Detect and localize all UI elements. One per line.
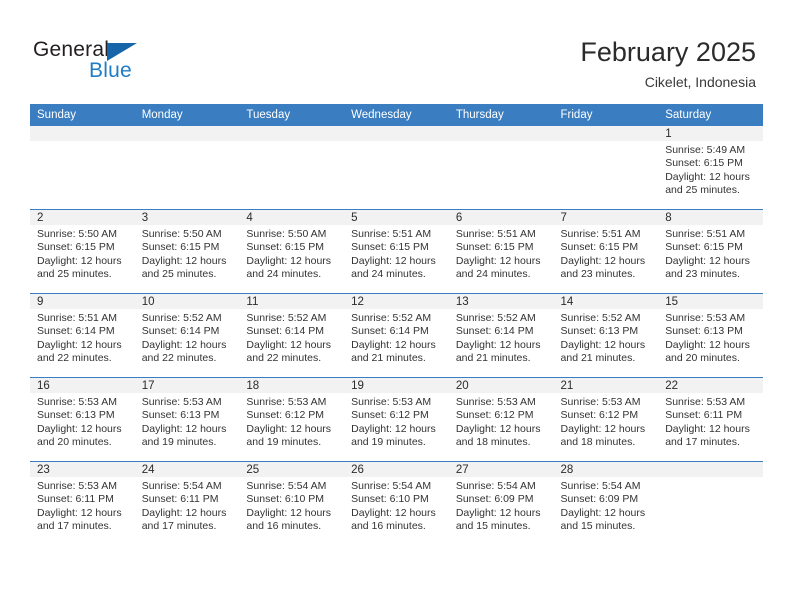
calendar-cell-inner: 9Sunrise: 5:51 AMSunset: 6:14 PMDaylight… <box>30 294 135 377</box>
calendar-day-cell[interactable]: 3Sunrise: 5:50 AMSunset: 6:15 PMDaylight… <box>135 210 240 294</box>
daylight-text-line1: Daylight: 12 hours <box>665 339 757 352</box>
calendar-day-cell[interactable]: 28Sunrise: 5:54 AMSunset: 6:09 PMDayligh… <box>554 462 659 546</box>
general-blue-logo[interactable]: General Blue <box>33 38 233 88</box>
calendar-cell-inner: 23Sunrise: 5:53 AMSunset: 6:11 PMDayligh… <box>30 462 135 545</box>
daylight-text-line2: and 15 minutes. <box>456 520 548 533</box>
daylight-text-line2: and 25 minutes. <box>665 184 757 197</box>
daylight-text-line1: Daylight: 12 hours <box>246 423 338 436</box>
calendar-cell-inner <box>239 126 344 209</box>
day-number: 13 <box>449 294 554 309</box>
calendar-cell-empty <box>449 126 554 210</box>
calendar-cell-inner: 4Sunrise: 5:50 AMSunset: 6:15 PMDaylight… <box>239 210 344 293</box>
daylight-text-line2: and 21 minutes. <box>351 352 443 365</box>
calendar-day-cell[interactable]: 22Sunrise: 5:53 AMSunset: 6:11 PMDayligh… <box>658 378 763 462</box>
daylight-text-line1: Daylight: 12 hours <box>561 423 653 436</box>
daylight-text-line1: Daylight: 12 hours <box>665 171 757 184</box>
daylight-text-line2: and 16 minutes. <box>246 520 338 533</box>
day-details: Sunrise: 5:54 AMSunset: 6:10 PMDaylight:… <box>344 477 449 534</box>
calendar-day-cell[interactable]: 20Sunrise: 5:53 AMSunset: 6:12 PMDayligh… <box>449 378 554 462</box>
day-details: Sunrise: 5:53 AMSunset: 6:12 PMDaylight:… <box>449 393 554 450</box>
day-number: 3 <box>135 210 240 225</box>
sunset-text: Sunset: 6:09 PM <box>456 493 548 506</box>
day-number <box>30 126 135 141</box>
day-details: Sunrise: 5:52 AMSunset: 6:14 PMDaylight:… <box>449 309 554 366</box>
calendar-cell-inner: 11Sunrise: 5:52 AMSunset: 6:14 PMDayligh… <box>239 294 344 377</box>
calendar-cell-empty <box>344 126 449 210</box>
sunrise-text: Sunrise: 5:53 AM <box>351 396 443 409</box>
sunrise-text: Sunrise: 5:52 AM <box>246 312 338 325</box>
calendar-cell-inner <box>344 126 449 209</box>
calendar-header-row: Sunday Monday Tuesday Wednesday Thursday… <box>30 104 763 126</box>
calendar-cell-inner <box>658 462 763 545</box>
daylight-text-line2: and 17 minutes. <box>142 520 234 533</box>
day-details: Sunrise: 5:49 AMSunset: 6:15 PMDaylight:… <box>658 141 763 198</box>
day-number: 28 <box>554 462 659 477</box>
day-number: 12 <box>344 294 449 309</box>
calendar-day-cell[interactable]: 14Sunrise: 5:52 AMSunset: 6:13 PMDayligh… <box>554 294 659 378</box>
sunset-text: Sunset: 6:14 PM <box>351 325 443 338</box>
calendar-day-cell[interactable]: 23Sunrise: 5:53 AMSunset: 6:11 PMDayligh… <box>30 462 135 546</box>
sunrise-text: Sunrise: 5:52 AM <box>456 312 548 325</box>
day-details: Sunrise: 5:53 AMSunset: 6:12 PMDaylight:… <box>239 393 344 450</box>
day-details: Sunrise: 5:53 AMSunset: 6:12 PMDaylight:… <box>344 393 449 450</box>
calendar-cell-inner: 20Sunrise: 5:53 AMSunset: 6:12 PMDayligh… <box>449 378 554 461</box>
calendar-cell-inner: 14Sunrise: 5:52 AMSunset: 6:13 PMDayligh… <box>554 294 659 377</box>
calendar-day-cell[interactable]: 2Sunrise: 5:50 AMSunset: 6:15 PMDaylight… <box>30 210 135 294</box>
calendar-day-cell[interactable]: 1Sunrise: 5:49 AMSunset: 6:15 PMDaylight… <box>658 126 763 210</box>
calendar-day-cell[interactable]: 17Sunrise: 5:53 AMSunset: 6:13 PMDayligh… <box>135 378 240 462</box>
sunrise-text: Sunrise: 5:51 AM <box>456 228 548 241</box>
daylight-text-line1: Daylight: 12 hours <box>456 423 548 436</box>
calendar-cell-inner: 3Sunrise: 5:50 AMSunset: 6:15 PMDaylight… <box>135 210 240 293</box>
calendar-day-cell[interactable]: 12Sunrise: 5:52 AMSunset: 6:14 PMDayligh… <box>344 294 449 378</box>
calendar-week-row: 1Sunrise: 5:49 AMSunset: 6:15 PMDaylight… <box>30 126 763 210</box>
weekday-header-saturday: Saturday <box>658 104 763 126</box>
logo-text-blue: Blue <box>89 59 132 83</box>
weekday-header-friday: Friday <box>554 104 659 126</box>
sunset-text: Sunset: 6:15 PM <box>246 241 338 254</box>
daylight-text-line2: and 17 minutes. <box>665 436 757 449</box>
day-number <box>239 126 344 141</box>
calendar-day-cell[interactable]: 11Sunrise: 5:52 AMSunset: 6:14 PMDayligh… <box>239 294 344 378</box>
daylight-text-line2: and 24 minutes. <box>456 268 548 281</box>
calendar-day-cell[interactable]: 25Sunrise: 5:54 AMSunset: 6:10 PMDayligh… <box>239 462 344 546</box>
daylight-text-line2: and 15 minutes. <box>561 520 653 533</box>
sunset-text: Sunset: 6:15 PM <box>142 241 234 254</box>
sunrise-text: Sunrise: 5:54 AM <box>246 480 338 493</box>
day-details: Sunrise: 5:53 AMSunset: 6:13 PMDaylight:… <box>658 309 763 366</box>
day-details: Sunrise: 5:51 AMSunset: 6:15 PMDaylight:… <box>658 225 763 282</box>
day-details: Sunrise: 5:54 AMSunset: 6:09 PMDaylight:… <box>449 477 554 534</box>
day-details: Sunrise: 5:51 AMSunset: 6:15 PMDaylight:… <box>449 225 554 282</box>
sunset-text: Sunset: 6:12 PM <box>456 409 548 422</box>
daylight-text-line1: Daylight: 12 hours <box>37 507 129 520</box>
calendar-cell-inner: 15Sunrise: 5:53 AMSunset: 6:13 PMDayligh… <box>658 294 763 377</box>
daylight-text-line2: and 17 minutes. <box>37 520 129 533</box>
calendar-cell-inner <box>135 126 240 209</box>
calendar-body: 1Sunrise: 5:49 AMSunset: 6:15 PMDaylight… <box>30 126 763 545</box>
page-title: February 2025 <box>580 36 756 68</box>
day-number: 19 <box>344 378 449 393</box>
daylight-text-line1: Daylight: 12 hours <box>351 339 443 352</box>
sunrise-text: Sunrise: 5:51 AM <box>351 228 443 241</box>
sunset-text: Sunset: 6:13 PM <box>561 325 653 338</box>
calendar-cell-empty <box>30 126 135 210</box>
sunrise-text: Sunrise: 5:53 AM <box>142 396 234 409</box>
calendar-cell-inner: 19Sunrise: 5:53 AMSunset: 6:12 PMDayligh… <box>344 378 449 461</box>
sunrise-text: Sunrise: 5:54 AM <box>351 480 443 493</box>
sunset-text: Sunset: 6:13 PM <box>142 409 234 422</box>
day-number <box>554 126 659 141</box>
calendar-cell-inner <box>554 126 659 209</box>
day-number: 24 <box>135 462 240 477</box>
sunrise-text: Sunrise: 5:52 AM <box>142 312 234 325</box>
daylight-text-line1: Daylight: 12 hours <box>142 507 234 520</box>
day-details: Sunrise: 5:54 AMSunset: 6:11 PMDaylight:… <box>135 477 240 534</box>
calendar-cell-inner: 21Sunrise: 5:53 AMSunset: 6:12 PMDayligh… <box>554 378 659 461</box>
sunset-text: Sunset: 6:15 PM <box>37 241 129 254</box>
day-details: Sunrise: 5:51 AMSunset: 6:14 PMDaylight:… <box>30 309 135 366</box>
calendar-cell-inner: 6Sunrise: 5:51 AMSunset: 6:15 PMDaylight… <box>449 210 554 293</box>
daylight-text-line1: Daylight: 12 hours <box>246 339 338 352</box>
weekday-header-tuesday: Tuesday <box>239 104 344 126</box>
calendar-day-cell[interactable]: 4Sunrise: 5:50 AMSunset: 6:15 PMDaylight… <box>239 210 344 294</box>
calendar-day-cell[interactable]: 26Sunrise: 5:54 AMSunset: 6:10 PMDayligh… <box>344 462 449 546</box>
page-header: General Blue February 2025 Cikelet, Indo… <box>0 0 792 104</box>
calendar-cell-empty <box>658 462 763 546</box>
sunrise-text: Sunrise: 5:51 AM <box>561 228 653 241</box>
day-number: 16 <box>30 378 135 393</box>
sunset-text: Sunset: 6:11 PM <box>142 493 234 506</box>
day-details: Sunrise: 5:51 AMSunset: 6:15 PMDaylight:… <box>344 225 449 282</box>
sunrise-text: Sunrise: 5:51 AM <box>665 228 757 241</box>
sunset-text: Sunset: 6:15 PM <box>456 241 548 254</box>
day-details: Sunrise: 5:50 AMSunset: 6:15 PMDaylight:… <box>30 225 135 282</box>
day-details: Sunrise: 5:52 AMSunset: 6:14 PMDaylight:… <box>135 309 240 366</box>
daylight-text-line1: Daylight: 12 hours <box>665 423 757 436</box>
sunrise-text: Sunrise: 5:50 AM <box>246 228 338 241</box>
daylight-text-line1: Daylight: 12 hours <box>561 507 653 520</box>
calendar-cell-empty <box>135 126 240 210</box>
daylight-text-line2: and 23 minutes. <box>665 268 757 281</box>
day-number: 1 <box>658 126 763 141</box>
sunrise-text: Sunrise: 5:51 AM <box>37 312 129 325</box>
sunrise-text: Sunrise: 5:49 AM <box>665 144 757 157</box>
sunset-text: Sunset: 6:15 PM <box>351 241 443 254</box>
sunrise-text: Sunrise: 5:53 AM <box>456 396 548 409</box>
day-number: 4 <box>239 210 344 225</box>
calendar-cell-inner: 2Sunrise: 5:50 AMSunset: 6:15 PMDaylight… <box>30 210 135 293</box>
calendar-day-cell[interactable]: 10Sunrise: 5:52 AMSunset: 6:14 PMDayligh… <box>135 294 240 378</box>
daylight-text-line2: and 21 minutes. <box>561 352 653 365</box>
day-number: 26 <box>344 462 449 477</box>
sunset-text: Sunset: 6:10 PM <box>351 493 443 506</box>
daylight-text-line1: Daylight: 12 hours <box>561 339 653 352</box>
day-details: Sunrise: 5:53 AMSunset: 6:12 PMDaylight:… <box>554 393 659 450</box>
calendar-day-cell[interactable]: 5Sunrise: 5:51 AMSunset: 6:15 PMDaylight… <box>344 210 449 294</box>
sunrise-text: Sunrise: 5:53 AM <box>246 396 338 409</box>
day-details: Sunrise: 5:53 AMSunset: 6:13 PMDaylight:… <box>30 393 135 450</box>
calendar-cell-inner: 16Sunrise: 5:53 AMSunset: 6:13 PMDayligh… <box>30 378 135 461</box>
daylight-text-line2: and 19 minutes. <box>142 436 234 449</box>
daylight-text-line1: Daylight: 12 hours <box>142 339 234 352</box>
sunset-text: Sunset: 6:15 PM <box>665 241 757 254</box>
daylight-text-line2: and 19 minutes. <box>246 436 338 449</box>
weekday-header-sunday: Sunday <box>30 104 135 126</box>
day-number: 23 <box>30 462 135 477</box>
calendar-day-cell[interactable]: 15Sunrise: 5:53 AMSunset: 6:13 PMDayligh… <box>658 294 763 378</box>
daylight-text-line1: Daylight: 12 hours <box>351 507 443 520</box>
day-number: 5 <box>344 210 449 225</box>
calendar-week-row: 23Sunrise: 5:53 AMSunset: 6:11 PMDayligh… <box>30 462 763 546</box>
sunset-text: Sunset: 6:11 PM <box>665 409 757 422</box>
calendar-cell-inner: 25Sunrise: 5:54 AMSunset: 6:10 PMDayligh… <box>239 462 344 545</box>
daylight-text-line2: and 25 minutes. <box>142 268 234 281</box>
daylight-text-line1: Daylight: 12 hours <box>246 507 338 520</box>
sunrise-text: Sunrise: 5:53 AM <box>665 396 757 409</box>
daylight-text-line1: Daylight: 12 hours <box>246 255 338 268</box>
calendar-day-cell[interactable]: 19Sunrise: 5:53 AMSunset: 6:12 PMDayligh… <box>344 378 449 462</box>
calendar-cell-inner: 1Sunrise: 5:49 AMSunset: 6:15 PMDaylight… <box>658 126 763 209</box>
daylight-text-line1: Daylight: 12 hours <box>665 255 757 268</box>
sunset-text: Sunset: 6:12 PM <box>246 409 338 422</box>
calendar-day-cell[interactable]: 7Sunrise: 5:51 AMSunset: 6:15 PMDaylight… <box>554 210 659 294</box>
calendar-day-cell[interactable]: 16Sunrise: 5:53 AMSunset: 6:13 PMDayligh… <box>30 378 135 462</box>
calendar-cell-inner: 22Sunrise: 5:53 AMSunset: 6:11 PMDayligh… <box>658 378 763 461</box>
sunset-text: Sunset: 6:15 PM <box>561 241 653 254</box>
daylight-text-line1: Daylight: 12 hours <box>456 339 548 352</box>
daylight-text-line2: and 25 minutes. <box>37 268 129 281</box>
sunrise-text: Sunrise: 5:50 AM <box>142 228 234 241</box>
calendar-week-row: 16Sunrise: 5:53 AMSunset: 6:13 PMDayligh… <box>30 378 763 462</box>
calendar-cell-inner: 10Sunrise: 5:52 AMSunset: 6:14 PMDayligh… <box>135 294 240 377</box>
weekday-header-monday: Monday <box>135 104 240 126</box>
daylight-text-line2: and 23 minutes. <box>561 268 653 281</box>
calendar-cell-inner <box>449 126 554 209</box>
daylight-text-line1: Daylight: 12 hours <box>351 423 443 436</box>
calendar-cell-inner: 13Sunrise: 5:52 AMSunset: 6:14 PMDayligh… <box>449 294 554 377</box>
sunset-text: Sunset: 6:13 PM <box>665 325 757 338</box>
daylight-text-line1: Daylight: 12 hours <box>142 255 234 268</box>
calendar-day-cell[interactable]: 21Sunrise: 5:53 AMSunset: 6:12 PMDayligh… <box>554 378 659 462</box>
daylight-text-line2: and 24 minutes. <box>246 268 338 281</box>
calendar-page: General Blue February 2025 Cikelet, Indo… <box>0 0 792 612</box>
sunrise-text: Sunrise: 5:54 AM <box>456 480 548 493</box>
day-details: Sunrise: 5:53 AMSunset: 6:11 PMDaylight:… <box>658 393 763 450</box>
sunset-text: Sunset: 6:14 PM <box>246 325 338 338</box>
day-number: 2 <box>30 210 135 225</box>
day-number: 17 <box>135 378 240 393</box>
calendar-cell-inner: 17Sunrise: 5:53 AMSunset: 6:13 PMDayligh… <box>135 378 240 461</box>
day-number: 11 <box>239 294 344 309</box>
sunset-text: Sunset: 6:09 PM <box>561 493 653 506</box>
calendar-day-cell[interactable]: 9Sunrise: 5:51 AMSunset: 6:14 PMDaylight… <box>30 294 135 378</box>
calendar-grid: Sunday Monday Tuesday Wednesday Thursday… <box>30 104 763 545</box>
title-block: February 2025 Cikelet, Indonesia <box>580 36 756 92</box>
calendar-cell-empty <box>554 126 659 210</box>
calendar-day-cell[interactable]: 24Sunrise: 5:54 AMSunset: 6:11 PMDayligh… <box>135 462 240 546</box>
day-number <box>135 126 240 141</box>
daylight-text-line1: Daylight: 12 hours <box>37 255 129 268</box>
daylight-text-line2: and 22 minutes. <box>246 352 338 365</box>
day-number: 9 <box>30 294 135 309</box>
sunset-text: Sunset: 6:14 PM <box>37 325 129 338</box>
daylight-text-line2: and 20 minutes. <box>665 352 757 365</box>
sunrise-text: Sunrise: 5:54 AM <box>561 480 653 493</box>
day-number: 25 <box>239 462 344 477</box>
daylight-text-line2: and 18 minutes. <box>456 436 548 449</box>
daylight-text-line2: and 19 minutes. <box>351 436 443 449</box>
sunset-text: Sunset: 6:14 PM <box>456 325 548 338</box>
day-number <box>658 462 763 477</box>
sunrise-text: Sunrise: 5:54 AM <box>142 480 234 493</box>
calendar-cell-empty <box>239 126 344 210</box>
daylight-text-line1: Daylight: 12 hours <box>142 423 234 436</box>
day-number: 7 <box>554 210 659 225</box>
sunrise-text: Sunrise: 5:53 AM <box>37 396 129 409</box>
calendar-day-cell[interactable]: 6Sunrise: 5:51 AMSunset: 6:15 PMDaylight… <box>449 210 554 294</box>
day-number: 18 <box>239 378 344 393</box>
calendar-day-cell[interactable]: 27Sunrise: 5:54 AMSunset: 6:09 PMDayligh… <box>449 462 554 546</box>
day-number: 6 <box>449 210 554 225</box>
sunrise-text: Sunrise: 5:52 AM <box>561 312 653 325</box>
day-number <box>344 126 449 141</box>
page-subtitle: Cikelet, Indonesia <box>580 72 756 92</box>
day-number: 14 <box>554 294 659 309</box>
calendar-week-row: 9Sunrise: 5:51 AMSunset: 6:14 PMDaylight… <box>30 294 763 378</box>
daylight-text-line1: Daylight: 12 hours <box>456 507 548 520</box>
day-details: Sunrise: 5:52 AMSunset: 6:13 PMDaylight:… <box>554 309 659 366</box>
daylight-text-line1: Daylight: 12 hours <box>456 255 548 268</box>
daylight-text-line2: and 22 minutes. <box>142 352 234 365</box>
day-details: Sunrise: 5:54 AMSunset: 6:09 PMDaylight:… <box>554 477 659 534</box>
weekday-header-thursday: Thursday <box>449 104 554 126</box>
day-number: 22 <box>658 378 763 393</box>
day-details: Sunrise: 5:54 AMSunset: 6:10 PMDaylight:… <box>239 477 344 534</box>
day-details: Sunrise: 5:50 AMSunset: 6:15 PMDaylight:… <box>135 225 240 282</box>
day-number <box>449 126 554 141</box>
day-details: Sunrise: 5:51 AMSunset: 6:15 PMDaylight:… <box>554 225 659 282</box>
calendar-cell-inner: 5Sunrise: 5:51 AMSunset: 6:15 PMDaylight… <box>344 210 449 293</box>
day-details: Sunrise: 5:53 AMSunset: 6:11 PMDaylight:… <box>30 477 135 534</box>
calendar-cell-inner: 12Sunrise: 5:52 AMSunset: 6:14 PMDayligh… <box>344 294 449 377</box>
calendar-cell-inner <box>30 126 135 209</box>
day-number: 21 <box>554 378 659 393</box>
daylight-text-line1: Daylight: 12 hours <box>561 255 653 268</box>
day-number: 8 <box>658 210 763 225</box>
daylight-text-line1: Daylight: 12 hours <box>37 423 129 436</box>
calendar-week-row: 2Sunrise: 5:50 AMSunset: 6:15 PMDaylight… <box>30 210 763 294</box>
daylight-text-line2: and 18 minutes. <box>561 436 653 449</box>
sunrise-text: Sunrise: 5:50 AM <box>37 228 129 241</box>
day-details: Sunrise: 5:52 AMSunset: 6:14 PMDaylight:… <box>344 309 449 366</box>
daylight-text-line2: and 24 minutes. <box>351 268 443 281</box>
calendar-cell-inner: 18Sunrise: 5:53 AMSunset: 6:12 PMDayligh… <box>239 378 344 461</box>
daylight-text-line2: and 20 minutes. <box>37 436 129 449</box>
calendar-cell-inner: 7Sunrise: 5:51 AMSunset: 6:15 PMDaylight… <box>554 210 659 293</box>
day-number: 20 <box>449 378 554 393</box>
day-details: Sunrise: 5:50 AMSunset: 6:15 PMDaylight:… <box>239 225 344 282</box>
calendar-cell-inner: 8Sunrise: 5:51 AMSunset: 6:15 PMDaylight… <box>658 210 763 293</box>
sunset-text: Sunset: 6:12 PM <box>351 409 443 422</box>
calendar-day-cell[interactable]: 18Sunrise: 5:53 AMSunset: 6:12 PMDayligh… <box>239 378 344 462</box>
sunset-text: Sunset: 6:13 PM <box>37 409 129 422</box>
sunset-text: Sunset: 6:11 PM <box>37 493 129 506</box>
calendar-cell-inner: 28Sunrise: 5:54 AMSunset: 6:09 PMDayligh… <box>554 462 659 545</box>
sunset-text: Sunset: 6:15 PM <box>665 157 757 170</box>
sunrise-text: Sunrise: 5:53 AM <box>37 480 129 493</box>
calendar-cell-inner: 26Sunrise: 5:54 AMSunset: 6:10 PMDayligh… <box>344 462 449 545</box>
day-number: 15 <box>658 294 763 309</box>
sunrise-text: Sunrise: 5:53 AM <box>665 312 757 325</box>
sunset-text: Sunset: 6:10 PM <box>246 493 338 506</box>
calendar-cell-inner: 27Sunrise: 5:54 AMSunset: 6:09 PMDayligh… <box>449 462 554 545</box>
calendar-cell-inner: 24Sunrise: 5:54 AMSunset: 6:11 PMDayligh… <box>135 462 240 545</box>
sunset-text: Sunset: 6:14 PM <box>142 325 234 338</box>
calendar-day-cell[interactable]: 8Sunrise: 5:51 AMSunset: 6:15 PMDaylight… <box>658 210 763 294</box>
daylight-text-line2: and 21 minutes. <box>456 352 548 365</box>
sunset-text: Sunset: 6:12 PM <box>561 409 653 422</box>
day-details: Sunrise: 5:53 AMSunset: 6:13 PMDaylight:… <box>135 393 240 450</box>
daylight-text-line1: Daylight: 12 hours <box>37 339 129 352</box>
day-number: 10 <box>135 294 240 309</box>
daylight-text-line2: and 16 minutes. <box>351 520 443 533</box>
sunrise-text: Sunrise: 5:52 AM <box>351 312 443 325</box>
day-number: 27 <box>449 462 554 477</box>
day-details: Sunrise: 5:52 AMSunset: 6:14 PMDaylight:… <box>239 309 344 366</box>
daylight-text-line2: and 22 minutes. <box>37 352 129 365</box>
weekday-header-wednesday: Wednesday <box>344 104 449 126</box>
calendar-day-cell[interactable]: 13Sunrise: 5:52 AMSunset: 6:14 PMDayligh… <box>449 294 554 378</box>
daylight-text-line1: Daylight: 12 hours <box>351 255 443 268</box>
sunrise-text: Sunrise: 5:53 AM <box>561 396 653 409</box>
